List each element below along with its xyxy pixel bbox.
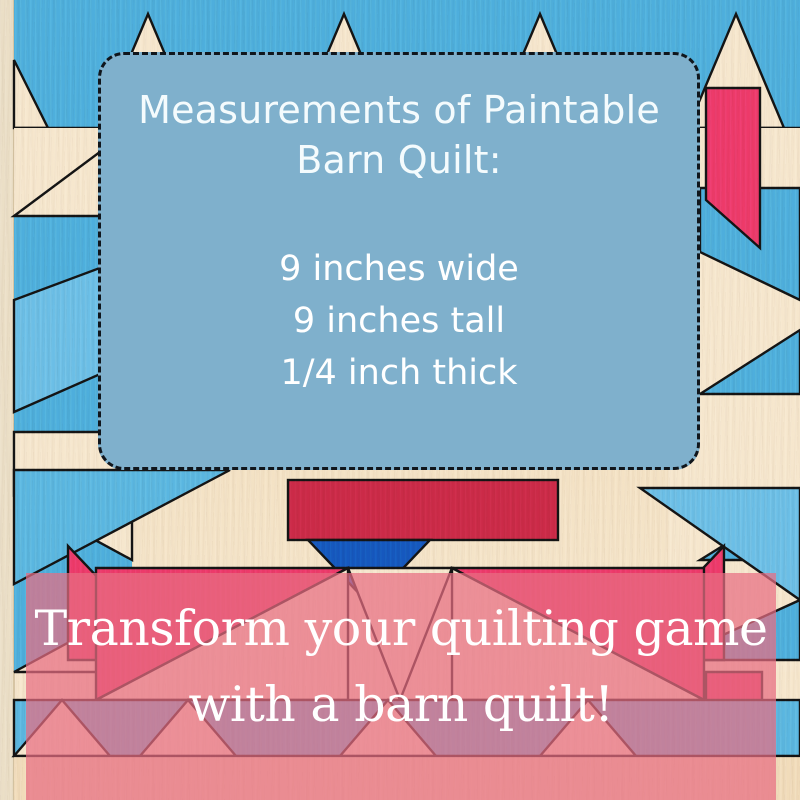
poster-canvas: Measurements of Paintable Barn Quilt: 9 …	[0, 0, 800, 800]
promo-text: Transform your quilting game with a barn…	[21, 591, 781, 743]
measurements-card: Measurements of Paintable Barn Quilt: 9 …	[98, 52, 700, 470]
promo-line-1: Transform your quilting game	[21, 591, 781, 667]
quilt-center-bar	[288, 480, 558, 540]
promo-banner: Transform your quilting game with a barn…	[26, 573, 776, 800]
spec-item-thickness: 1/4 inch thick	[279, 347, 519, 399]
spec-item-width: 9 inches wide	[279, 243, 519, 295]
spec-list: 9 inches wide 9 inches tall 1/4 inch thi…	[279, 243, 519, 399]
card-heading: Measurements of Paintable Barn Quilt:	[109, 85, 689, 185]
wood-panel-left-edge	[0, 0, 14, 800]
spec-item-height: 9 inches tall	[279, 295, 519, 347]
promo-line-2: with a barn quilt!	[21, 667, 781, 743]
